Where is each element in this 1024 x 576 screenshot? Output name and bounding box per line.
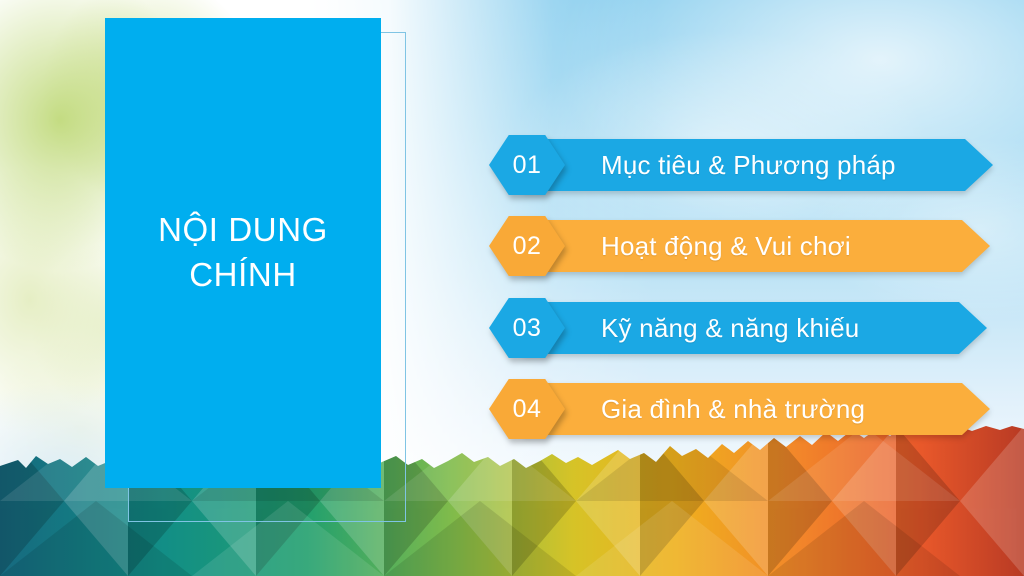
slide-canvas: NỘI DUNG CHÍNH 01 Mục tiêu & Phương pháp… [0,0,1024,576]
item-label: Gia đình & nhà trường [601,379,865,439]
item-number-hexagon-shape: 03 [489,298,565,358]
item-number: 04 [513,395,542,424]
item-number-hexagon-shape: 01 [489,135,565,195]
item-number-hexagon-shape: 02 [489,216,565,276]
item-number-hexagon: 03 [489,298,565,358]
item-number: 03 [513,314,542,343]
item-number-hexagon: 01 [489,135,565,195]
item-label: Mục tiêu & Phương pháp [601,135,896,195]
item-number: 02 [513,232,542,261]
item-number-hexagon-shape: 04 [489,379,565,439]
item-number-hexagon: 04 [489,379,565,439]
item-number-hexagon: 02 [489,216,565,276]
item-number: 01 [513,151,542,180]
content-items-list: 01 Mục tiêu & Phương pháp 02 Hoạt động &… [0,0,1024,576]
item-label: Hoạt động & Vui chơi [601,216,851,276]
item-label: Kỹ năng & năng khiếu [601,298,859,358]
